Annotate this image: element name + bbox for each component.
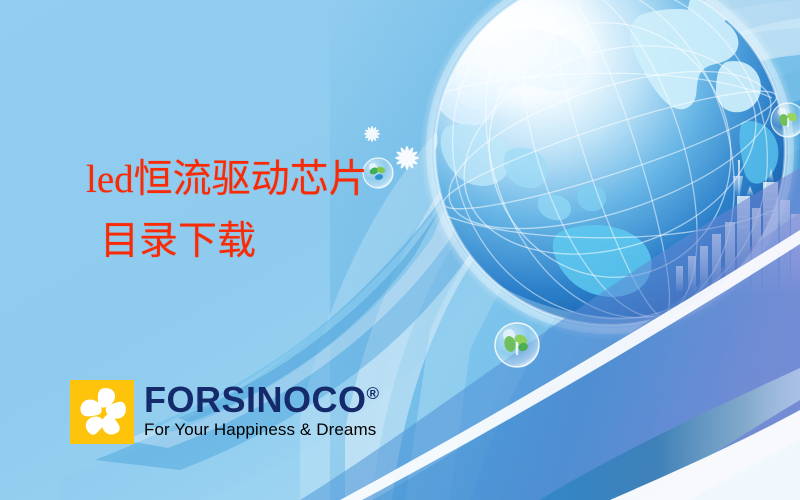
logo-wordmark: FORSINOCO® — [144, 382, 380, 418]
forsinoco-pinwheel-mark — [70, 380, 134, 444]
headline-line-2: 目录下载 — [100, 222, 368, 261]
headline-text: led恒流驱动芯片 目录下载 — [86, 160, 368, 261]
bubble-edge — [771, 103, 800, 137]
registered-trademark-icon: ® — [367, 384, 380, 403]
marketing-banner: led恒流驱动芯片 目录下载 — [0, 0, 800, 500]
headline-line-1: led恒流驱动芯片 — [86, 160, 368, 199]
logo-text-block: FORSINOCO® For Your Happiness & Dreams — [144, 382, 380, 440]
logo-wordmark-text: FORSINOCO — [144, 379, 367, 420]
forsinoco-logo[interactable]: FORSINOCO® For Your Happiness & Dreams — [70, 380, 380, 444]
bubble-leaf — [495, 323, 539, 367]
logo-tagline: For Your Happiness & Dreams — [144, 420, 380, 440]
